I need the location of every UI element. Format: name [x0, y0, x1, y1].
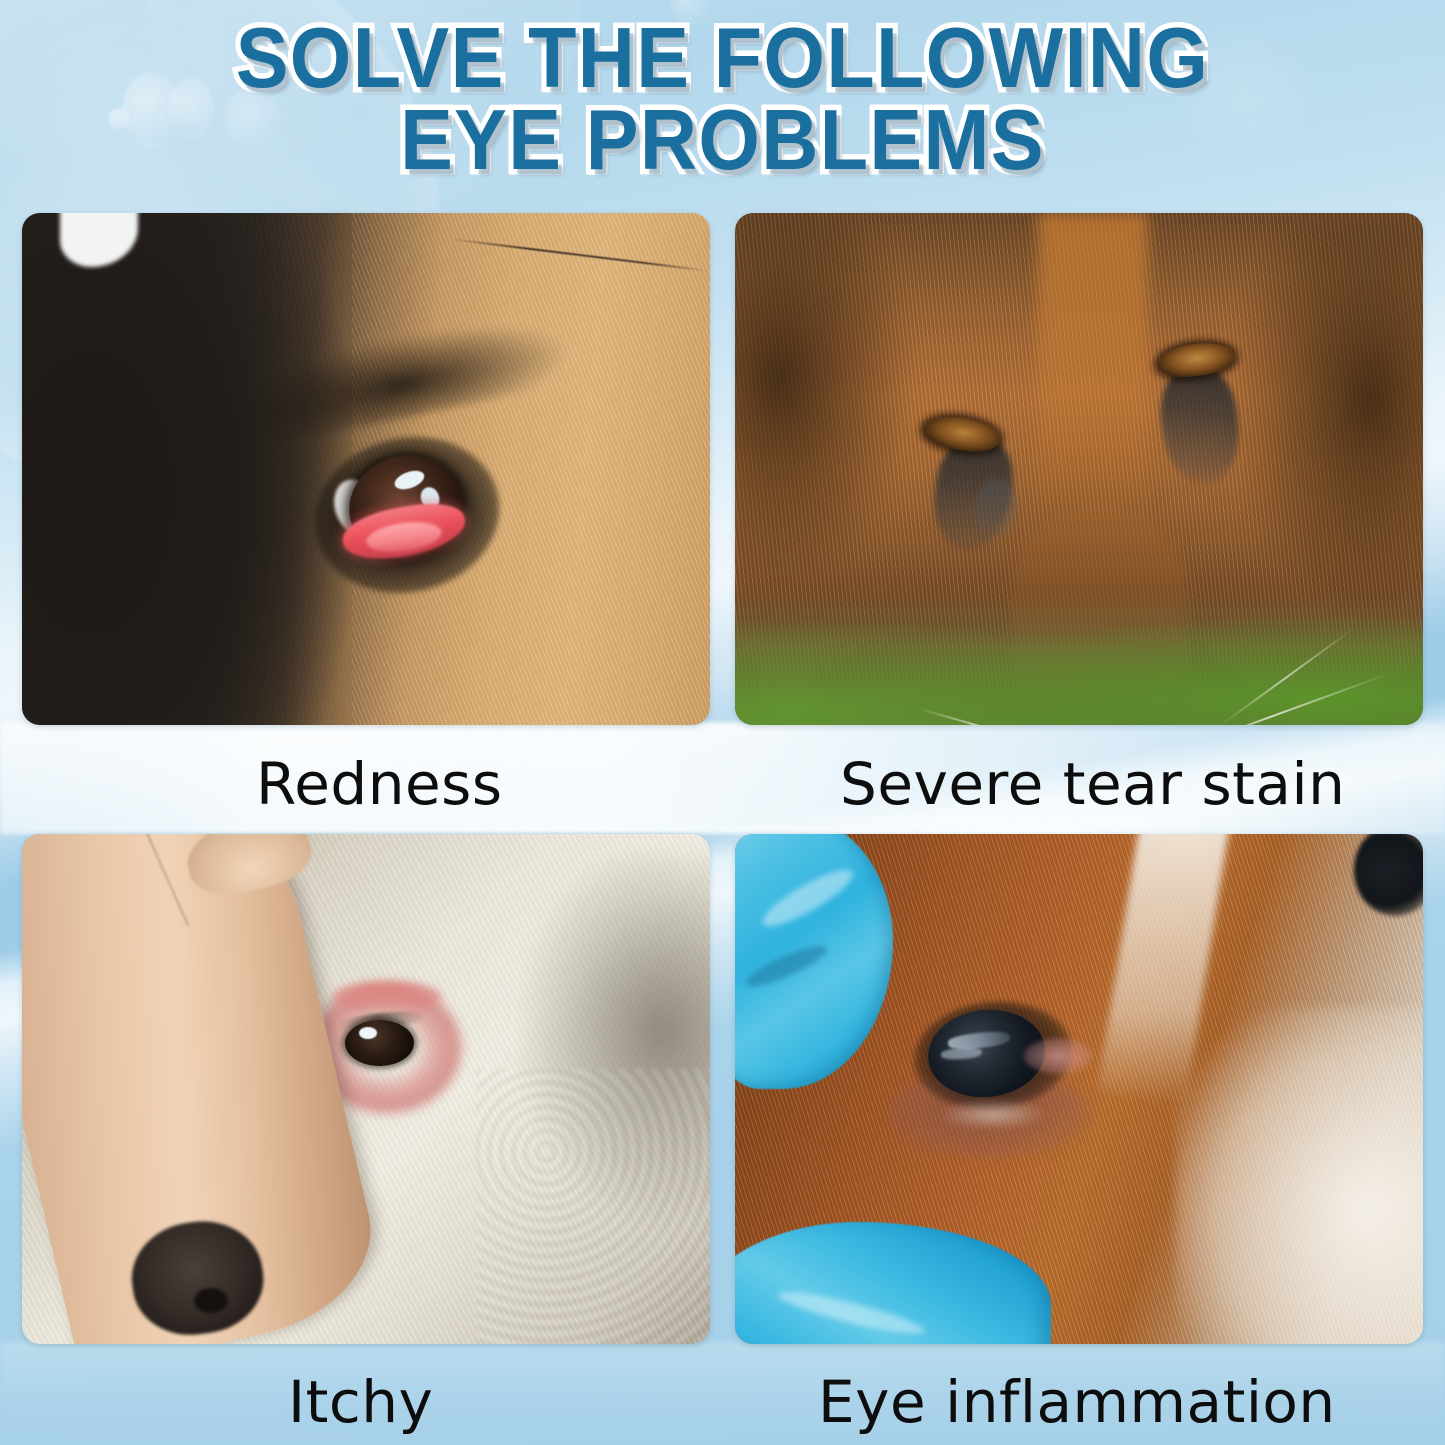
page-title: SOLVE THE FOLLOWING EYE PROBLEMS	[51, 18, 1395, 183]
curly-fur-region	[476, 1069, 710, 1344]
inflamed-eyelid	[1024, 1038, 1093, 1074]
poster-root: SOLVE THE FOLLOWING EYE PROBLEMS Redness	[0, 0, 1445, 1445]
dark-fur-region	[735, 213, 914, 582]
dog-itchy-eye-photo	[22, 834, 710, 1344]
problem-panel-itchy	[22, 834, 710, 1344]
problem-panel-eye-inflammation	[735, 834, 1423, 1344]
grass-background	[735, 592, 1423, 725]
dark-fur-region	[1230, 223, 1423, 612]
title-line-1: SOLVE THE FOLLOWING	[51, 18, 1395, 100]
eye-discharge-crust	[941, 1099, 1044, 1130]
dog-tear-stain-photo	[735, 213, 1423, 725]
title-line-2: EYE PROBLEMS	[51, 100, 1395, 182]
panel-caption-itchy: Itchy	[288, 1368, 433, 1436]
panel-caption-eye-inflammation: Eye inflammation	[818, 1368, 1336, 1436]
problem-panel-redness	[22, 213, 710, 725]
panel-caption-tear-stain: Severe tear stain	[840, 750, 1345, 818]
white-fur-region	[1175, 1007, 1423, 1344]
eye-highlight	[359, 1027, 377, 1039]
tear-stain-left-lower	[976, 479, 1017, 540]
dog-eye-redness-photo	[22, 213, 710, 725]
panel-caption-redness: Redness	[256, 750, 503, 818]
eyeball	[345, 1020, 414, 1066]
forehead-blaze	[1038, 213, 1148, 530]
problem-panel-tear-stain	[735, 213, 1423, 725]
dog-eye-inflammation-photo	[735, 834, 1423, 1344]
